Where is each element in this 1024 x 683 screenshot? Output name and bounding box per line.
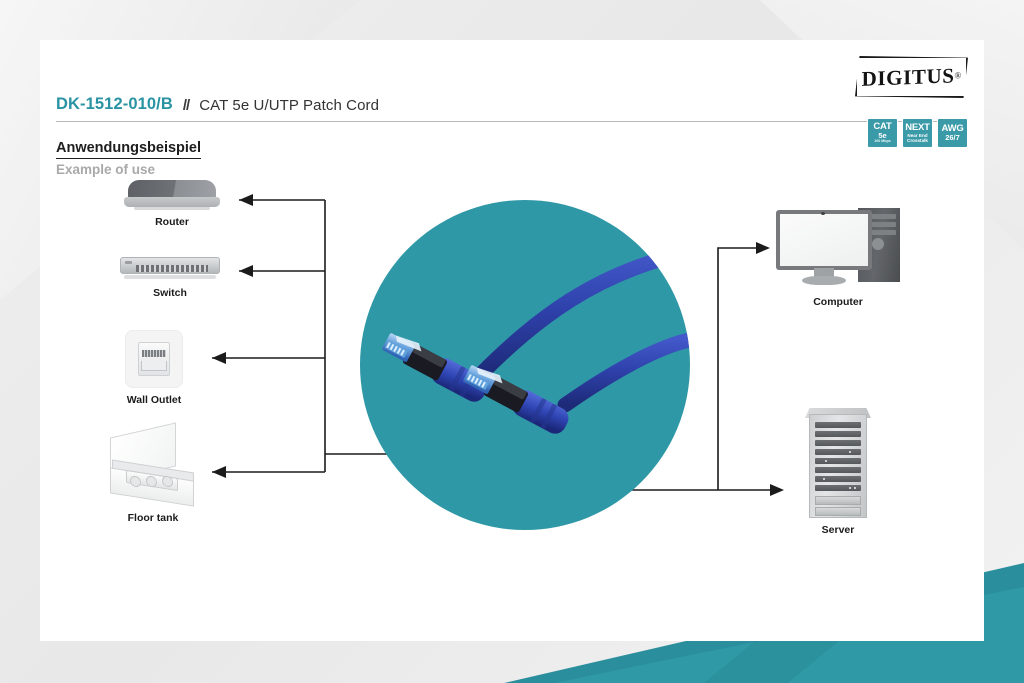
slide-canvas: DIGITUS® DK-1512-010/B // CAT 5e U/UTP P…	[0, 0, 1024, 683]
arrow-to-computer	[756, 242, 770, 254]
computer-label: Computer	[776, 296, 900, 308]
node-switch[interactable]: Switch	[110, 255, 230, 299]
node-server[interactable]: Server	[805, 408, 871, 536]
node-router[interactable]: Router	[112, 180, 232, 228]
router-label: Router	[112, 216, 232, 228]
node-computer[interactable]: Computer	[776, 208, 900, 308]
computer-icon	[776, 208, 900, 290]
node-floor-tank[interactable]: Floor tank	[78, 430, 228, 524]
node-wall-outlet[interactable]: Wall Outlet	[94, 330, 214, 406]
server-icon	[805, 408, 871, 518]
wall-outlet-icon	[125, 330, 183, 388]
content-card: DIGITUS® DK-1512-010/B // CAT 5e U/UTP P…	[40, 40, 984, 641]
wall-outlet-label: Wall Outlet	[94, 394, 214, 406]
product-circle	[360, 200, 690, 530]
floor-tank-icon	[104, 430, 202, 506]
floor-tank-label: Floor tank	[78, 512, 228, 524]
arrow-to-server	[770, 484, 784, 496]
usage-diagram: Router Switch Wall Outlet	[40, 40, 984, 641]
switch-label: Switch	[110, 287, 230, 299]
patch-cord-illustration	[360, 200, 690, 530]
server-label: Server	[805, 524, 871, 536]
arrow-to-router	[239, 194, 253, 206]
arrow-to-wall-outlet	[212, 352, 226, 364]
router-icon	[124, 180, 220, 210]
arrow-to-switch	[239, 265, 253, 277]
switch-icon	[120, 255, 220, 281]
